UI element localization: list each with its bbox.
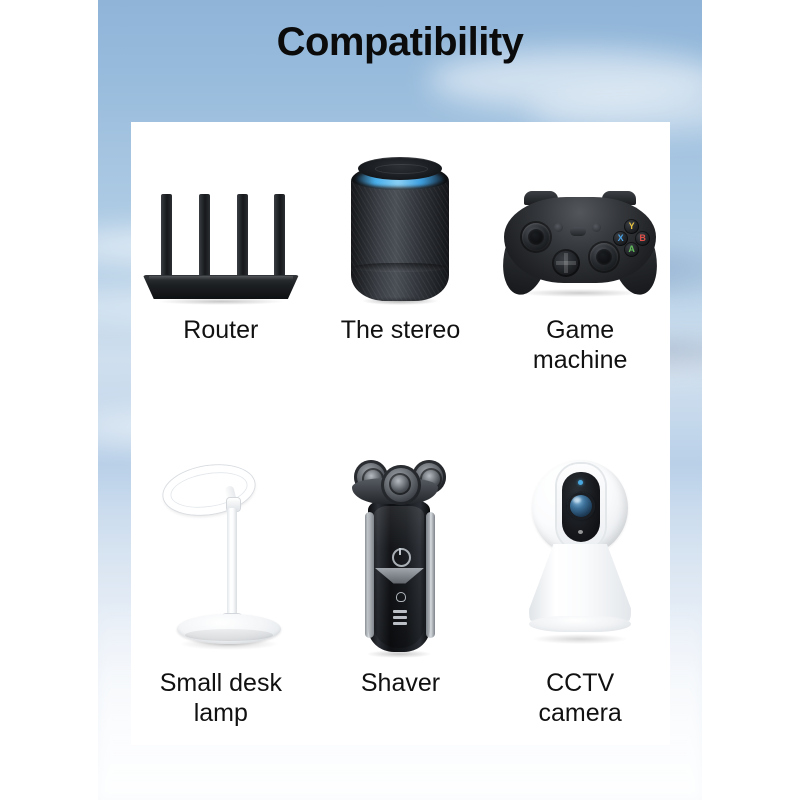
drop-shadow (520, 289, 640, 297)
device-cell-shaver[interactable]: Shaver (311, 434, 491, 746)
device-label-router: Router (183, 315, 258, 345)
router-base (143, 275, 299, 299)
cctv-camera-icon (515, 456, 645, 656)
router-antenna (161, 194, 172, 278)
shaver-chrome-trim (426, 512, 435, 638)
wifi-router-icon (143, 185, 299, 305)
stereo-artwork (315, 136, 485, 311)
page-title: Compatibility (0, 15, 800, 69)
ir-sensor-icon (578, 530, 583, 534)
router-artwork (136, 136, 306, 311)
lamp-stem (227, 508, 237, 624)
speaker-body (351, 171, 449, 301)
electric-shaver-icon (348, 456, 452, 656)
desk-lamp-artwork (136, 450, 306, 662)
device-cell-router[interactable]: Router (131, 122, 311, 434)
left-analog-stick (522, 223, 550, 251)
shaver-head (381, 465, 421, 505)
device-cell-desk-lamp[interactable]: Small desk lamp (131, 434, 311, 746)
drop-shadow (366, 650, 432, 658)
compatibility-infographic: Compatibility Router (0, 0, 800, 800)
shaver-chrome-trim (365, 512, 374, 638)
device-cell-cctv-camera[interactable]: CCTV camera (490, 434, 670, 746)
router-antenna (237, 194, 248, 278)
travel-lock-icon (396, 592, 406, 602)
device-cell-stereo[interactable]: The stereo (311, 122, 491, 434)
power-button-icon (392, 548, 411, 567)
drop-shadow (533, 634, 627, 644)
device-label-shaver: Shaver (361, 668, 440, 698)
view-button (554, 223, 563, 232)
battery-bar (393, 622, 407, 625)
shaver-artwork (315, 450, 485, 662)
router-antenna (274, 194, 285, 278)
camera-foot (529, 616, 631, 632)
menu-button (592, 223, 601, 232)
smart-speaker-icon (348, 155, 452, 307)
desk-lamp-icon (161, 462, 281, 658)
controller-body: Y X B A (504, 197, 656, 283)
compatibility-card: Router The stereo (131, 122, 670, 745)
device-label-game-machine: Game machine (533, 315, 628, 375)
battery-indicator (393, 602, 407, 628)
battery-bar (393, 610, 407, 613)
speaker-top-panel (358, 157, 442, 180)
device-label-stereo: The stereo (341, 315, 461, 345)
lamp-base (177, 614, 281, 644)
drop-shadow (157, 298, 285, 305)
speaker-seam (353, 263, 447, 272)
abxy-button-cluster: Y X B A (612, 219, 650, 257)
dpad-icon (552, 249, 580, 277)
lamp-ring-head (160, 459, 258, 521)
battery-bar (393, 616, 407, 619)
game-controller-artwork: Y X B A (495, 136, 665, 311)
router-antenna (199, 194, 210, 278)
share-button (570, 227, 586, 236)
game-controller-icon: Y X B A (504, 189, 656, 293)
drop-shadow (362, 297, 438, 305)
cctv-camera-artwork (495, 450, 665, 662)
device-label-desk-lamp: Small desk lamp (160, 668, 282, 728)
device-cell-game-machine[interactable]: Y X B A Game machine (490, 122, 670, 434)
device-label-cctv-camera: CCTV camera (538, 668, 621, 728)
camera-lens (567, 492, 595, 520)
device-grid: Router The stereo (131, 122, 670, 745)
status-led-icon (578, 480, 583, 485)
button-a: A (624, 242, 639, 257)
